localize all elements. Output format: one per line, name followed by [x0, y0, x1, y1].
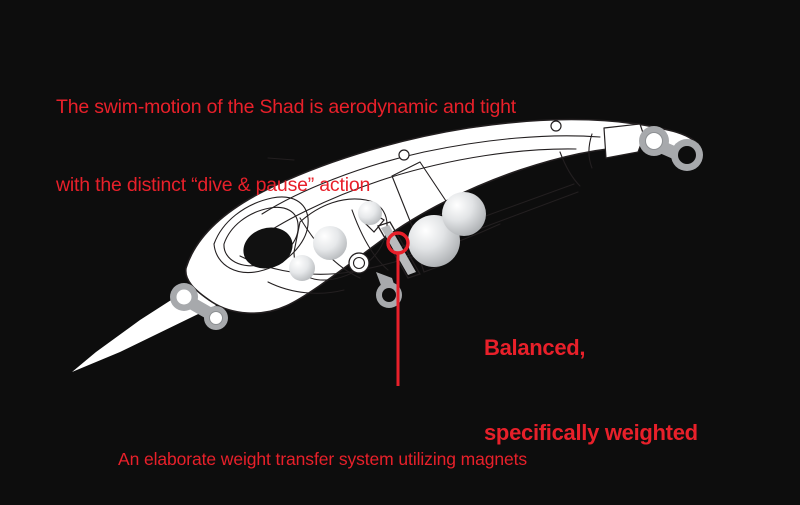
dorsal-marker-rear [551, 121, 561, 131]
weight-transfer-line-1: An elaborate weight transfer system util… [118, 448, 565, 471]
head-socket-circle-inner [354, 258, 365, 269]
tail-notch-panel[interactable] [604, 124, 644, 158]
swim-motion-line-2: with the distinct “dive & pause” action [56, 173, 516, 199]
balance-line-1: Balanced, [484, 334, 698, 362]
tail-split-ring-hole [678, 146, 696, 164]
tail-hook-hanger-hole [646, 133, 663, 150]
line-tie-eyelet-hole [177, 290, 192, 305]
swim-motion-callout: The swim-motion of the Shad is aerodynam… [56, 44, 516, 250]
lure-infographic: The swim-motion of the Shad is aerodynam… [0, 0, 800, 505]
line-tie-split-ring-hole [210, 312, 223, 325]
weight-transfer-callout: An elaborate weight transfer system util… [118, 402, 565, 505]
swim-motion-line-1: The swim-motion of the Shad is aerodynam… [56, 95, 516, 121]
ballast-ball-head-b [289, 255, 315, 281]
belly-hanger-ring-hole [382, 288, 396, 302]
